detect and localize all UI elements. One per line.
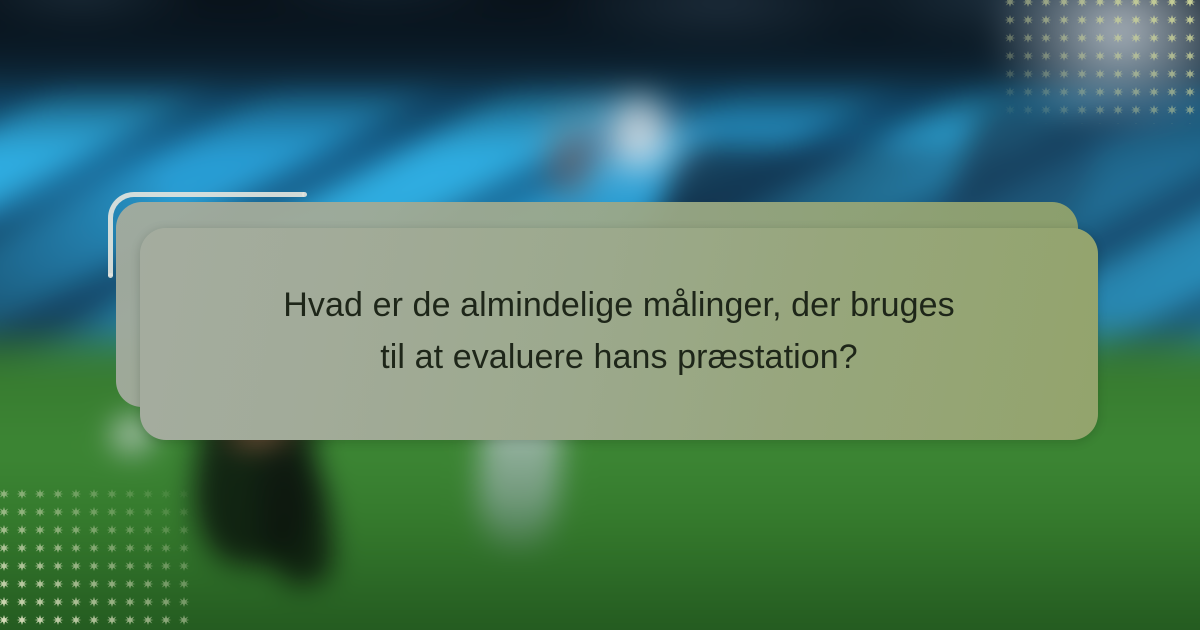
quote-line-2: til at evaluere hans præstation? [192, 331, 1046, 383]
quote-text: Hvad er de almindelige målinger, der bru… [140, 279, 1098, 383]
quote-line-1: Hvad er de almindelige målinger, der bru… [192, 279, 1046, 331]
quote-card[interactable]: Hvad er de almindelige målinger, der bru… [140, 228, 1098, 440]
quote-card-canvas: Hvad er de almindelige målinger, der bru… [0, 0, 1200, 630]
